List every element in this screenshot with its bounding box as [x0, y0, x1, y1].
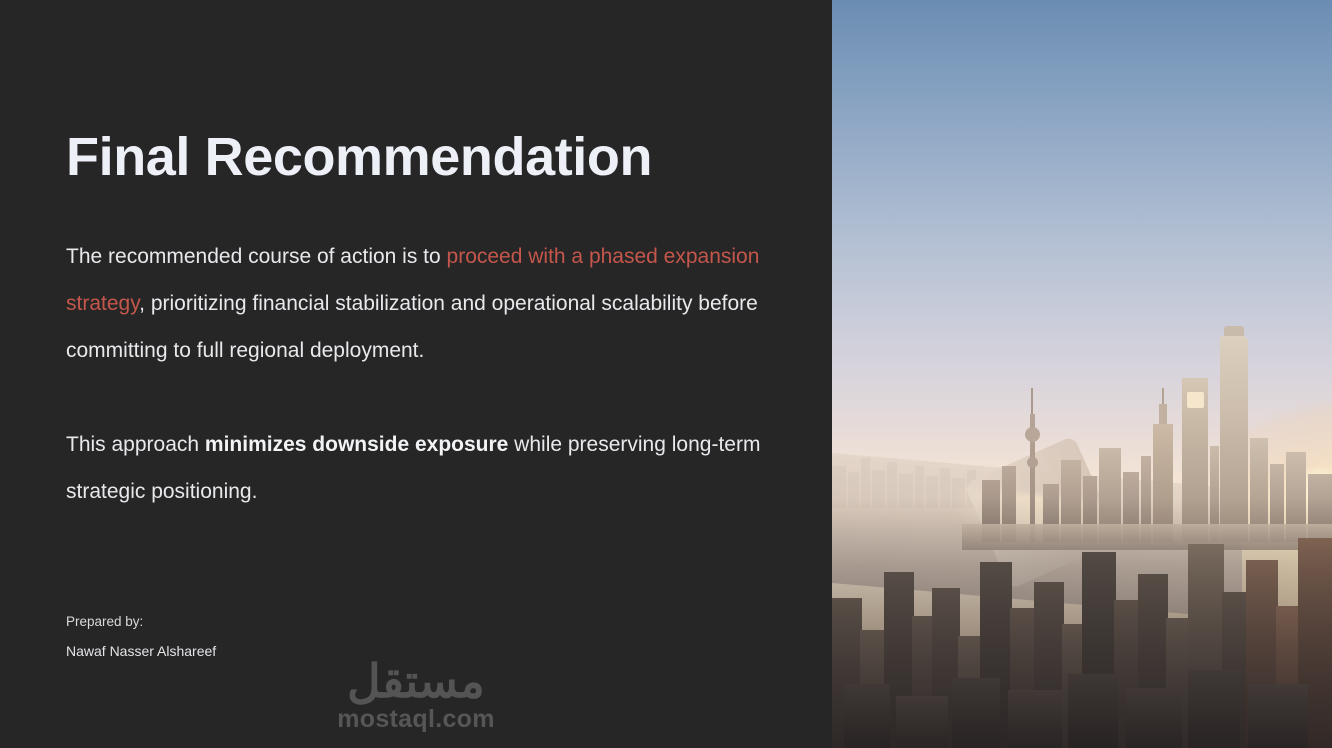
page-title: Final Recommendation: [66, 126, 652, 188]
slide-canvas: Final Recommendation The recommended cou…: [0, 0, 1332, 748]
author-name: Nawaf Nasser Alshareef: [66, 641, 216, 662]
watermark-domain-text: mostaql.com: [0, 704, 832, 734]
bold-emphasis-text: minimizes downside exposure: [205, 433, 508, 456]
watermark-arabic-logotype: مستقل: [0, 656, 832, 706]
prepared-by-block: Prepared by: Nawaf Nasser Alshareef: [66, 611, 216, 662]
paragraph-1-segment-2: , prioritizing financial stabilization a…: [66, 292, 758, 362]
foreground-cityscape: [832, 518, 1332, 748]
paragraph-recommendation: The recommended course of action is to p…: [66, 233, 766, 374]
content-panel: Final Recommendation The recommended cou…: [0, 0, 832, 748]
paragraph-approach: This approach minimizes downside exposur…: [66, 421, 766, 515]
shanghai-tower: [1220, 336, 1248, 542]
mostaql-watermark: مستقل mostaql.com: [0, 656, 832, 734]
skyline-photo: [832, 0, 1332, 748]
body-copy: The recommended course of action is to p…: [66, 233, 766, 515]
prepared-by-label: Prepared by:: [66, 611, 216, 632]
paragraph-2-segment-1: This approach: [66, 433, 205, 456]
paragraph-1-segment-1: The recommended course of action is to: [66, 245, 447, 268]
